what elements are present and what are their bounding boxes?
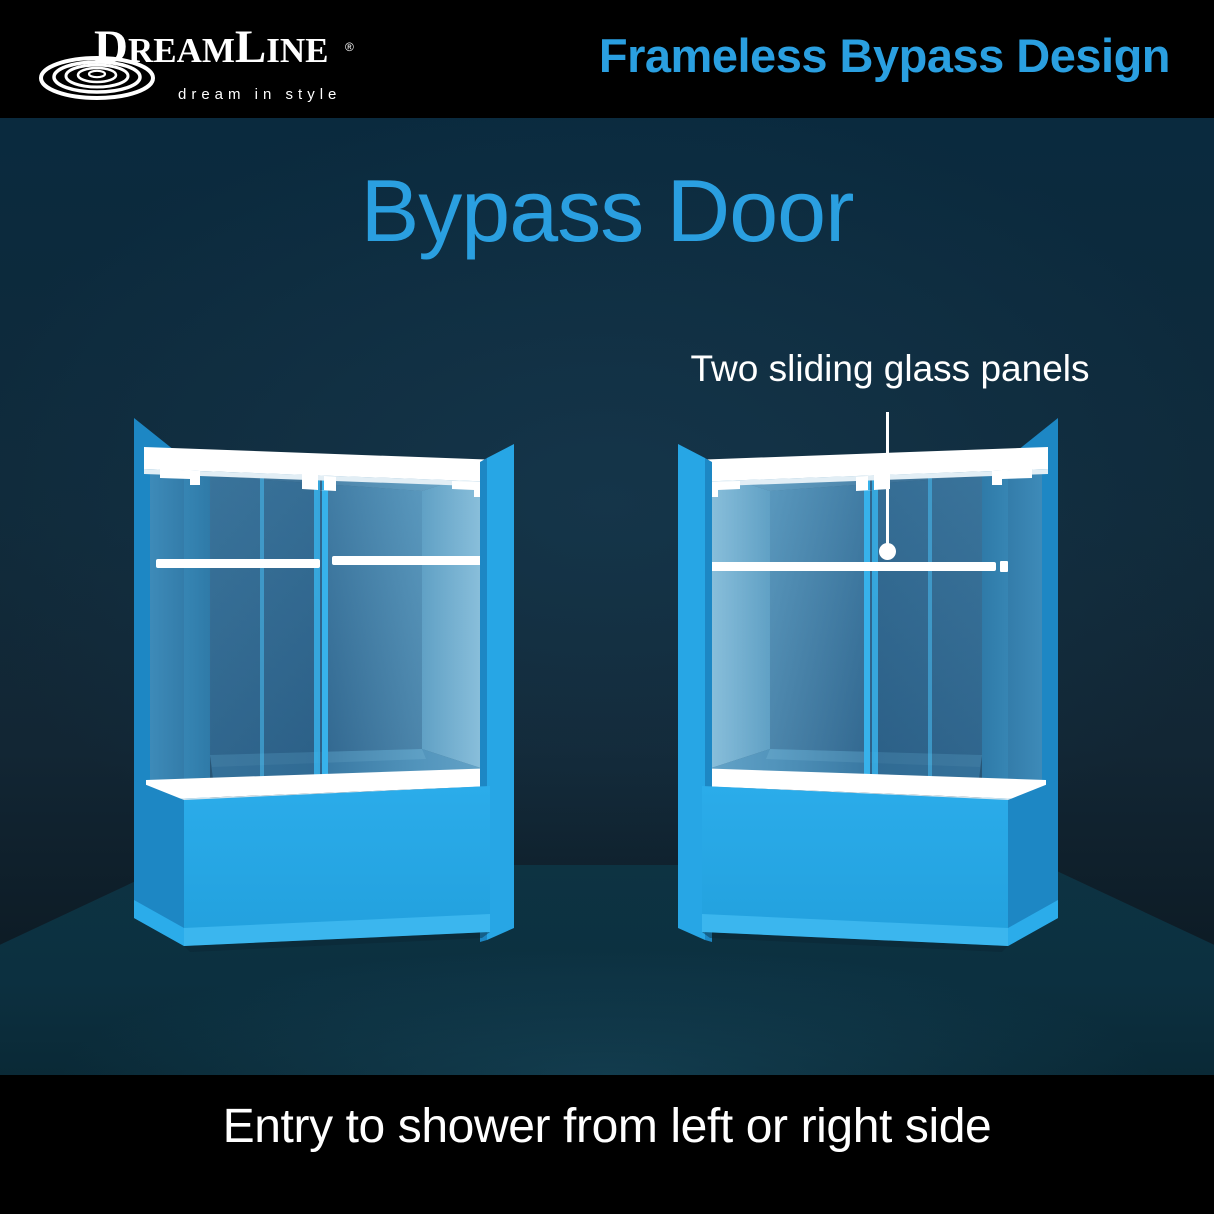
enclosure-right-side-wall (487, 444, 514, 940)
handle-bar-rear (698, 562, 996, 571)
shower-enclosure-right (670, 340, 1070, 880)
handle-bar-front-stub (1000, 561, 1008, 572)
callout-label: Two sliding glass panels (620, 348, 1160, 390)
footer-caption: Entry to shower from left or right side (0, 1099, 1214, 1154)
glass-edge-rear-left (872, 480, 878, 784)
brand-letter-d: D (94, 21, 128, 73)
glass-edge-front-right (864, 480, 870, 784)
enclosure-right-side-wall (678, 444, 705, 940)
callout-leader-dot-icon (879, 543, 896, 560)
glass-panel-front (150, 464, 328, 792)
header-title: Frameless Bypass Design (599, 28, 1170, 83)
glass-panel-rear (318, 470, 494, 784)
glass-edge-mid (260, 474, 264, 790)
brand-tagline: dream in style (178, 86, 341, 103)
handle-bar-rear (332, 556, 494, 565)
brand-wordmark: DREAMLINE (94, 24, 329, 71)
brand-logo[interactable]: DREAMLINE ® dream in style (38, 18, 368, 104)
glass-edge-mid (928, 474, 932, 790)
glass-edge-rear-left (314, 480, 320, 784)
brand-letters-ine: INE (266, 31, 328, 70)
product-illustration-page: Bypass Door Two sliding glass panels (0, 0, 1214, 1214)
brand-letters-ream: REAM (128, 31, 235, 70)
header-band: DREAMLINE ® dream in style Frameless Byp… (0, 0, 1214, 118)
callout-leader-line-icon (886, 412, 889, 552)
shower-enclosure-left (122, 340, 522, 880)
footer-band: Entry to shower from left or right side (0, 1075, 1214, 1214)
handle-bar-front (156, 559, 320, 568)
brand-letter-l: L (235, 21, 266, 73)
registered-trademark-icon: ® (345, 40, 354, 54)
glass-panel-rear (698, 470, 874, 784)
page-title: Bypass Door (0, 160, 1214, 262)
glass-panel-front (864, 464, 1042, 792)
glass-edge-front-right (322, 480, 328, 784)
